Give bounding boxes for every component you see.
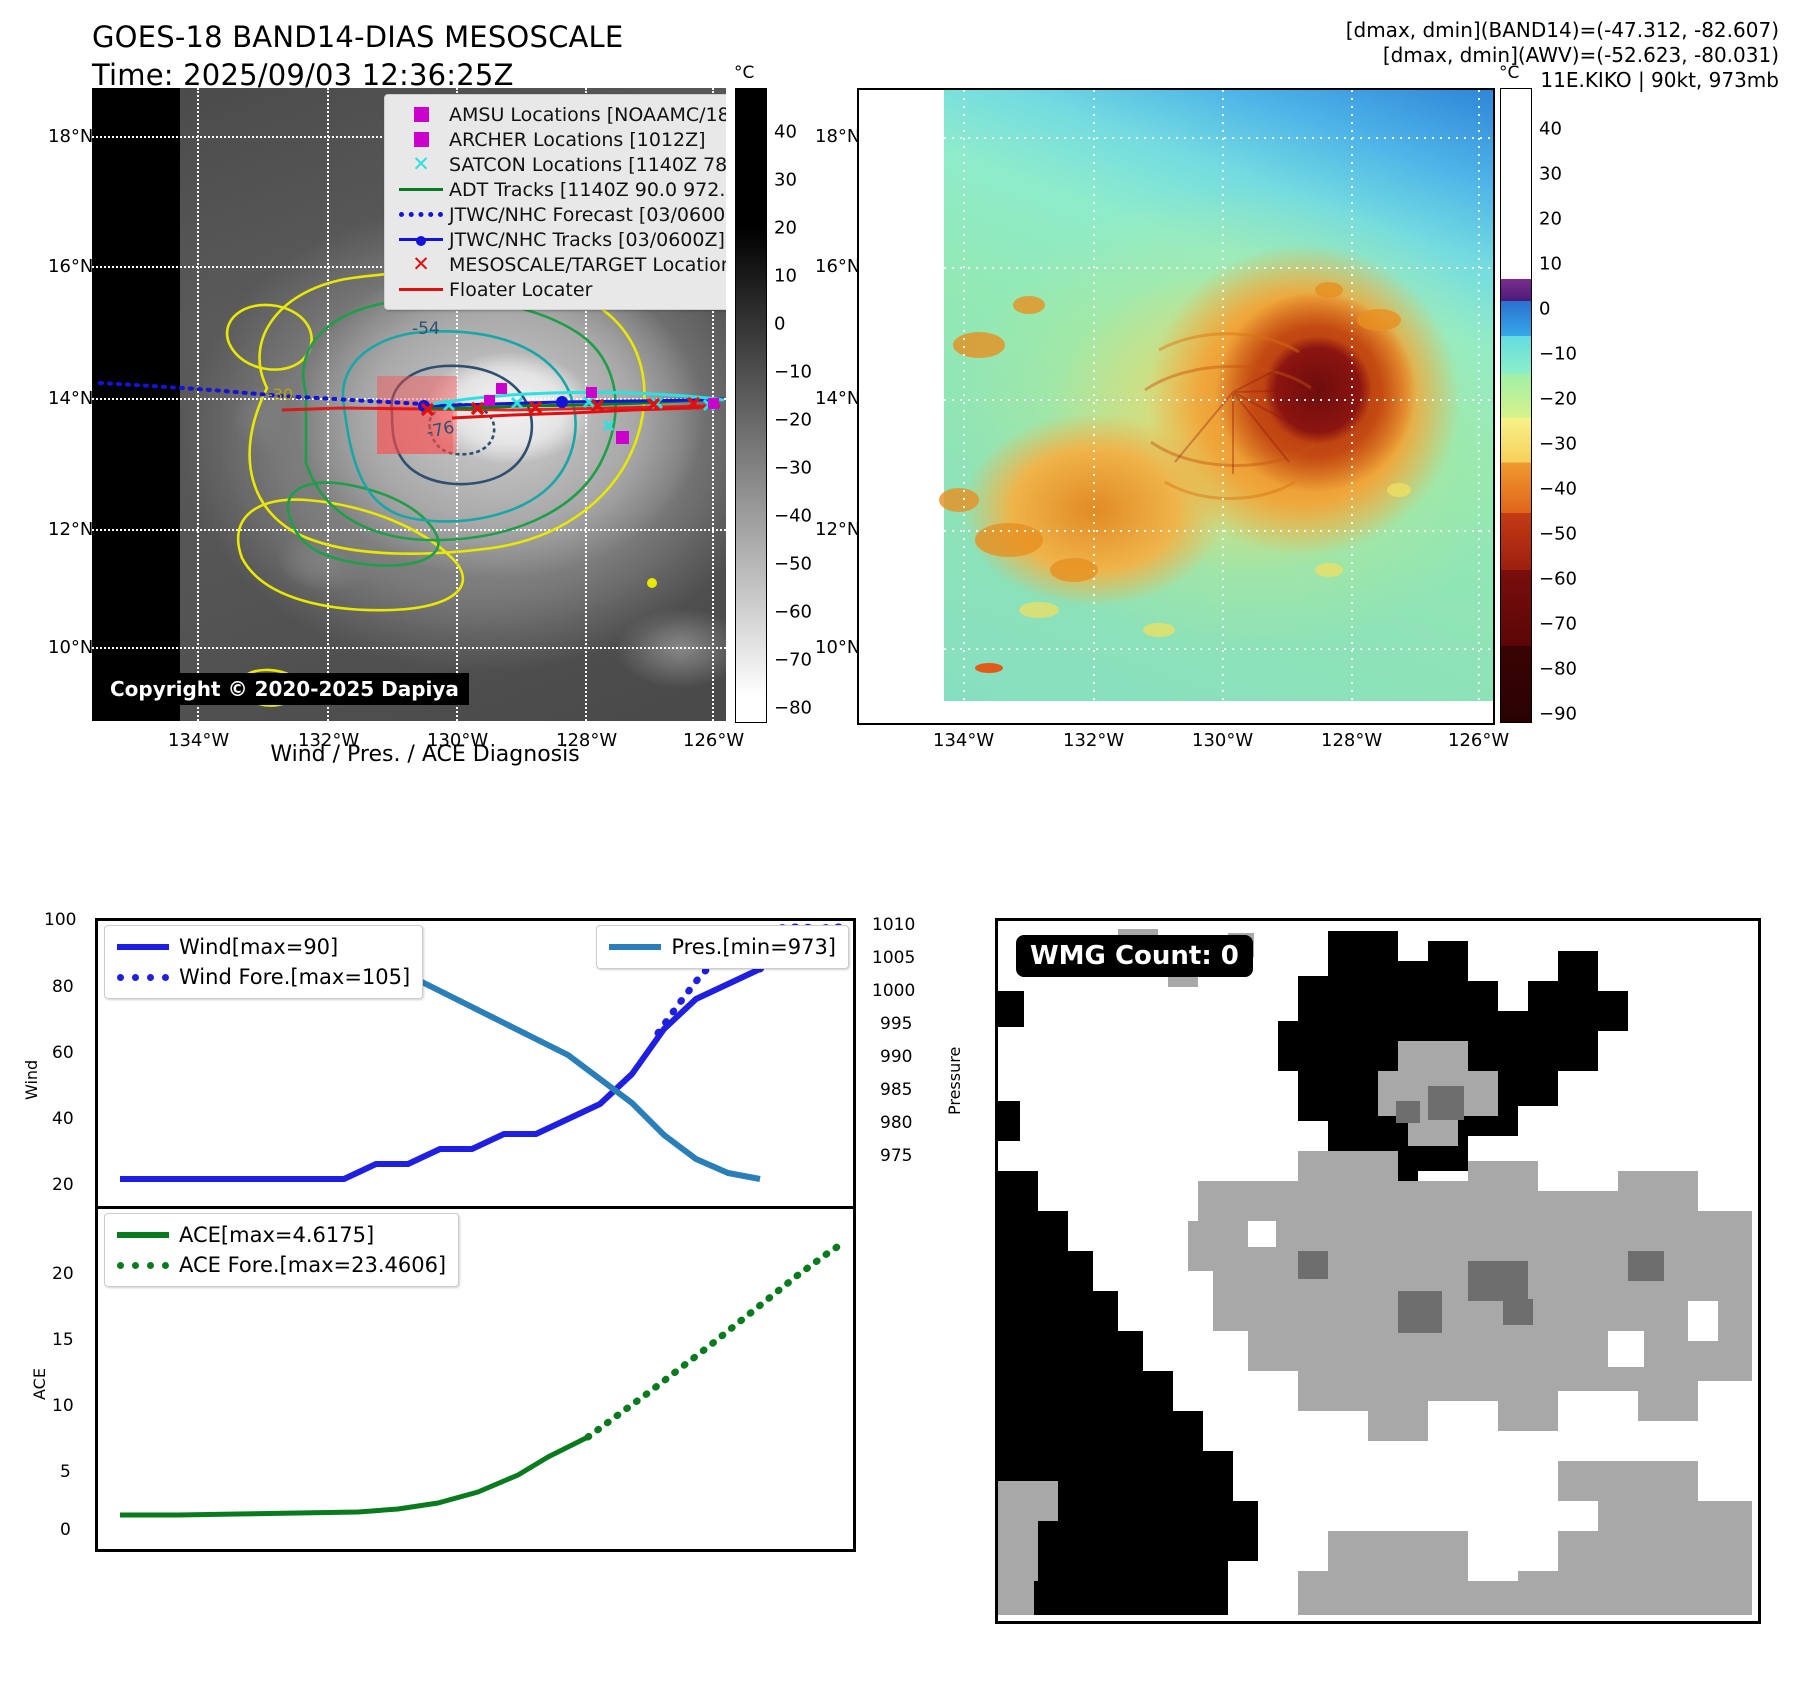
legend-item-amsu[interactable]: AMSU Locations [NOAAMC/1835Z 62 990]	[393, 102, 726, 127]
dotted-line-marker-icon	[117, 1262, 179, 1269]
legend-item-mesoscale-target[interactable]: ✕ MESOSCALE/TARGET Location	[393, 252, 726, 277]
ace-ytick: 0	[60, 1520, 71, 1540]
colorbar-tick: −60	[774, 602, 812, 623]
page-title: GOES-18 BAND14-DIAS MESOSCALE Time: 2025…	[92, 18, 623, 94]
wmg-raster	[998, 921, 1752, 1615]
colorbar-tick: −40	[1539, 479, 1577, 500]
colorbar-tick: 30	[774, 170, 797, 191]
colorbar-tick: −60	[1539, 569, 1577, 590]
legend-label: MESOSCALE/TARGET Location	[449, 254, 726, 276]
legend-label: ARCHER Locations [1012Z]	[449, 129, 706, 151]
pressure-axis-label: Pressure	[945, 1047, 964, 1115]
lat-tick: 16°N	[815, 256, 860, 277]
lat-tick: 14°N	[48, 388, 93, 409]
legend-item-jtwc-forecast[interactable]: JTWC/NHC Forecast [03/0600Z]	[393, 202, 726, 227]
wind-ytick: 60	[52, 1043, 74, 1063]
colorbar-tick: −30	[774, 458, 812, 479]
legend-label: JTWC/NHC Forecast [03/0600Z]	[449, 204, 726, 226]
dmax-dmin-band14: [dmax, dmin](BAND14)=(-47.312, -82.607)	[1346, 18, 1779, 43]
diagnosis-title: Wind / Pres. / ACE Diagnosis	[0, 742, 850, 767]
legend-item-ace[interactable]: ACE[max=4.6175]	[117, 1220, 446, 1250]
lon-tick: 132°W	[1063, 730, 1124, 751]
wind-ytick: 80	[52, 977, 74, 997]
legend-label: AMSU Locations [NOAAMC/1835Z 62 990]	[449, 104, 726, 126]
wind-axis-label: Wind	[22, 1060, 41, 1100]
square-marker-icon	[393, 132, 449, 147]
pressure-legend[interactable]: Pres.[min=973]	[596, 925, 849, 969]
legend-label: Floater Locater	[449, 279, 592, 301]
x-marker-icon: ✕	[393, 254, 449, 275]
ace-ytick: 5	[60, 1462, 71, 1482]
legend-label: Wind[max=90]	[179, 935, 338, 959]
solid-line-marker-icon	[609, 944, 671, 950]
pressure-ytick: 975	[880, 1146, 912, 1166]
wmg-count-badge: WMG Count: 0	[1016, 935, 1253, 977]
wmg-raster-panel[interactable]: WMG Count: 0	[995, 918, 1761, 1624]
colorbar-tick: −10	[1539, 344, 1577, 365]
ir-colorbar: °C 40 30 20 10 0 −10 −20 −30 −40 −50 −60…	[735, 88, 767, 723]
lat-tick: 10°N	[815, 637, 860, 658]
colorbar-tick: 0	[774, 314, 785, 335]
svg-text:-30: -30	[267, 385, 293, 404]
ace-ytick: 15	[52, 1330, 74, 1350]
legend-item-archer[interactable]: ARCHER Locations [1012Z]	[393, 127, 726, 152]
colorbar-tick: −80	[774, 698, 812, 719]
pressure-ytick: 1010	[872, 915, 915, 935]
header-stats: [dmax, dmin](BAND14)=(-47.312, -82.607) …	[1346, 18, 1779, 93]
ace-ytick: 20	[52, 1264, 74, 1284]
colorbar-tick: 30	[1539, 164, 1562, 185]
line-marker-icon	[393, 288, 449, 291]
colorbar-unit: °C	[734, 63, 754, 83]
line-marker-icon	[393, 188, 449, 191]
copyright-notice: Copyright © 2020-2025 Dapiya	[100, 673, 469, 705]
colorbar-tick: −70	[774, 650, 812, 671]
colorbar-tick: 0	[1539, 299, 1550, 320]
lat-tick: 16°N	[48, 256, 93, 277]
lat-tick: 14°N	[815, 388, 860, 409]
awv-satellite-image[interactable]	[857, 88, 1495, 725]
legend-item-floater-locater[interactable]: Floater Locater	[393, 277, 726, 302]
legend-item-wind-forecast[interactable]: Wind Fore.[max=105]	[117, 962, 410, 992]
wind-ytick: 40	[52, 1109, 74, 1129]
legend-item-ace-forecast[interactable]: ACE Fore.[max=23.4606]	[117, 1250, 446, 1280]
wind-legend[interactable]: Wind[max=90] Wind Fore.[max=105]	[104, 925, 423, 999]
wind-pressure-chart[interactable]: Wind[max=90] Wind Fore.[max=105] Pres.[m…	[95, 918, 856, 1212]
ace-chart[interactable]: ACE[max=4.6175] ACE Fore.[max=23.4606]	[95, 1206, 856, 1552]
lat-tick: 18°N	[815, 126, 860, 147]
legend-item-pressure[interactable]: Pres.[min=973]	[609, 932, 836, 962]
wind-ytick: 20	[52, 1175, 74, 1195]
dotted-line-marker-icon	[393, 212, 449, 217]
line-dot-marker-icon	[393, 238, 449, 241]
legend-item-jtwc-tracks[interactable]: JTWC/NHC Tracks [03/0600Z]	[393, 227, 726, 252]
legend-label: ACE[max=4.6175]	[179, 1223, 374, 1247]
colorbar-tick: −70	[1539, 614, 1577, 635]
awv-overlay	[859, 90, 1493, 723]
satellite-product-title: GOES-18 BAND14-DIAS MESOSCALE	[92, 18, 623, 56]
legend-label: Wind Fore.[max=105]	[179, 965, 410, 989]
lat-tick: 10°N	[48, 637, 93, 658]
dotted-line-marker-icon	[117, 974, 179, 981]
ace-ytick: 10	[52, 1396, 74, 1416]
ace-axis-label: ACE	[30, 1368, 49, 1400]
lon-tick: 128°W	[1321, 730, 1382, 751]
colorbar-tick: 10	[1539, 254, 1562, 275]
colorbar-tick: −20	[1539, 389, 1577, 410]
colorbar-tick: −80	[1539, 659, 1577, 680]
colorbar-tick: −40	[774, 506, 812, 527]
colorbar-tick: 10	[774, 266, 797, 287]
colorbar-tick: −50	[774, 554, 812, 575]
pressure-ytick: 1000	[872, 981, 915, 1001]
legend-label: Pres.[min=973]	[671, 935, 836, 959]
pressure-ytick: 980	[880, 1113, 912, 1133]
legend-label: JTWC/NHC Tracks [03/0600Z]	[449, 229, 725, 251]
legend-label: SATCON Locations [1140Z 78 979]	[449, 154, 726, 176]
lon-tick: 130°W	[1192, 730, 1253, 751]
square-marker-icon	[393, 107, 449, 122]
solid-line-marker-icon	[117, 944, 179, 950]
pressure-ytick: 995	[880, 1014, 912, 1034]
lon-tick: 126°W	[1448, 730, 1509, 751]
wind-ytick: 100	[44, 910, 76, 930]
lat-tick: 12°N	[48, 519, 93, 540]
svg-text:-54: -54	[412, 319, 440, 339]
legend-label: ADT Tracks [1140Z 90.0 972.6]	[449, 179, 726, 201]
dmax-dmin-awv: [dmax, dmin](AWV)=(-52.623, -80.031)	[1346, 43, 1779, 68]
pressure-ytick: 985	[880, 1080, 912, 1100]
lon-tick: 134°W	[933, 730, 994, 751]
legend-item-satcon[interactable]: ✕ SATCON Locations [1140Z 78 979]	[393, 152, 726, 177]
colorbar-unit: °C	[1499, 63, 1519, 83]
lat-tick: 12°N	[815, 519, 860, 540]
colorbar-tick: −50	[1539, 524, 1577, 545]
colorbar-tick: 40	[1539, 119, 1562, 140]
solid-line-marker-icon	[117, 1232, 179, 1238]
ir-legend[interactable]: AMSU Locations [NOAAMC/1835Z 62 990] ARC…	[384, 94, 726, 310]
legend-item-wind[interactable]: Wind[max=90]	[117, 932, 410, 962]
colorbar-tick: −10	[774, 362, 812, 383]
awv-colorbar: °C 40 30 20 10 0 −10 −20 −30 −40 −50 −60…	[1500, 88, 1532, 723]
ir-satellite-image[interactable]: -54 -76 -30 Copyright © 2020-2025 Dapiya…	[92, 88, 726, 721]
x-marker-icon: ✕	[393, 154, 449, 175]
legend-label: ACE Fore.[max=23.4606]	[179, 1253, 446, 1277]
colorbar-tick: −90	[1539, 704, 1577, 725]
colorbar-tick: −20	[774, 410, 812, 431]
colorbar-tick: 40	[774, 122, 797, 143]
ace-legend[interactable]: ACE[max=4.6175] ACE Fore.[max=23.4606]	[104, 1213, 459, 1287]
lat-tick: 18°N	[48, 126, 93, 147]
colorbar-tick: 20	[774, 218, 797, 239]
colorbar-tick: −30	[1539, 434, 1577, 455]
colorbar-tick: 20	[1539, 209, 1562, 230]
pressure-ytick: 990	[880, 1047, 912, 1067]
pressure-ytick: 1005	[872, 948, 915, 968]
legend-item-adt-tracks[interactable]: ADT Tracks [1140Z 90.0 972.6]	[393, 177, 726, 202]
